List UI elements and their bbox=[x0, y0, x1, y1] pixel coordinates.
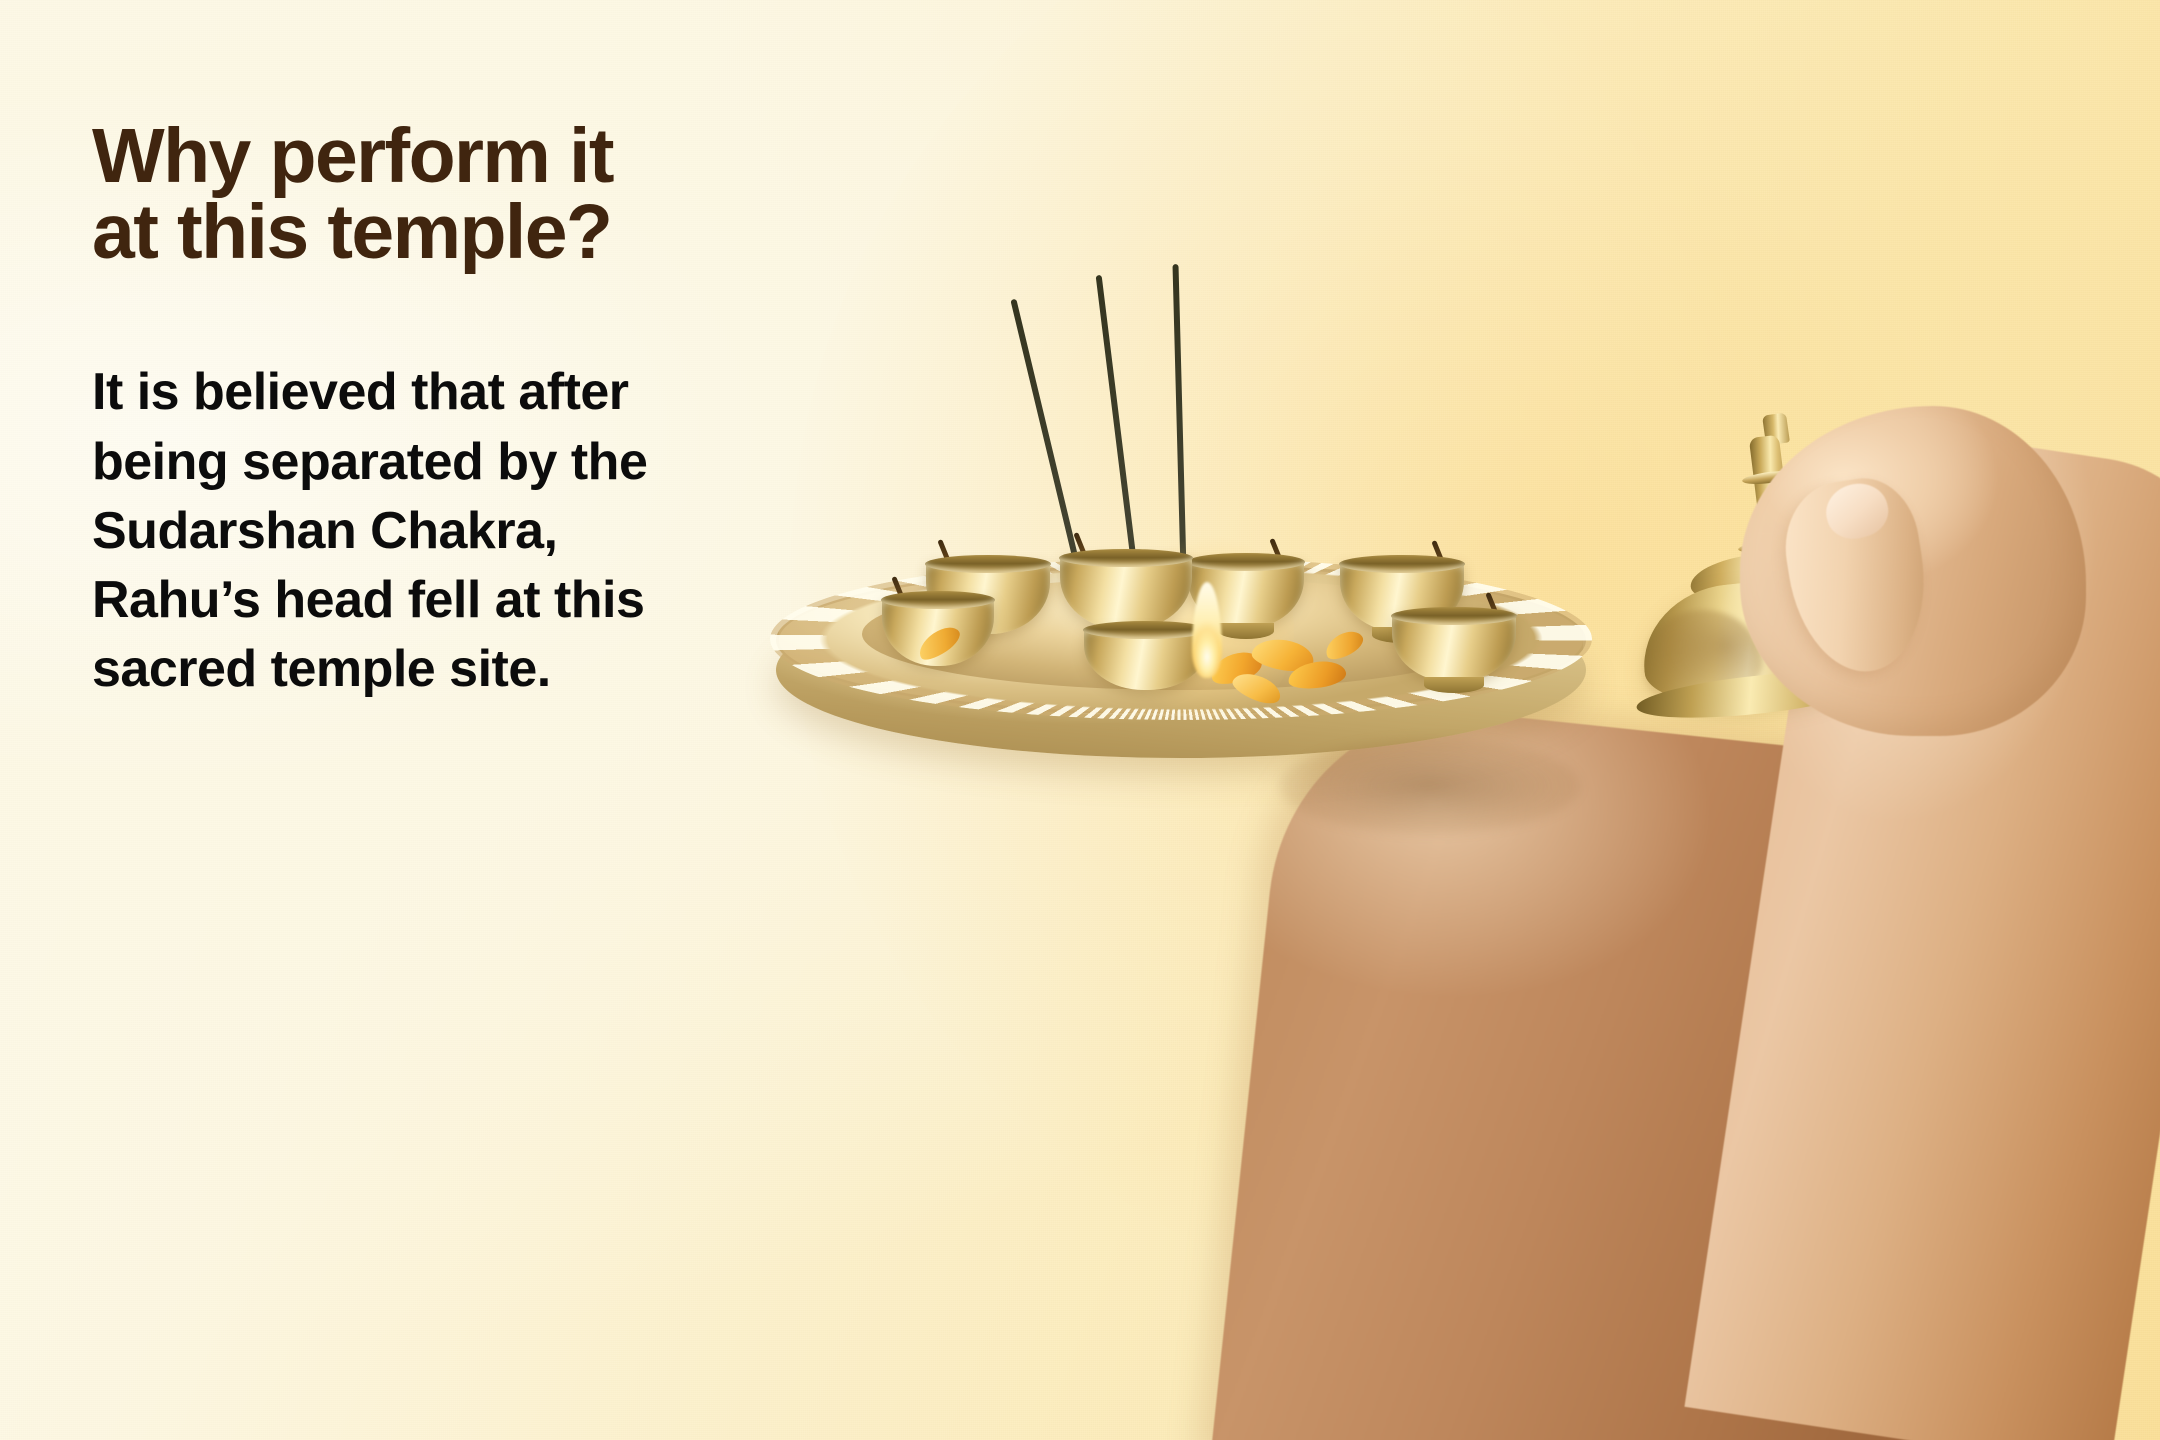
bowl-foot bbox=[1218, 623, 1274, 639]
slide-canvas: Why perform it at this temple? It is bel… bbox=[0, 0, 2160, 1440]
thali-contact-shadow bbox=[1280, 738, 1580, 834]
bowl-rim bbox=[1083, 621, 1209, 639]
brass-bowl bbox=[1084, 626, 1208, 690]
bowl-rim bbox=[1059, 549, 1193, 567]
brass-bowl bbox=[1392, 612, 1516, 682]
bowl-rim bbox=[1187, 553, 1305, 571]
bowl-rim bbox=[925, 555, 1051, 573]
bowl-rim bbox=[1391, 607, 1517, 625]
body-paragraph: It is believed that after being separate… bbox=[92, 358, 732, 704]
brass-bowl bbox=[1060, 554, 1192, 630]
bowl-rim bbox=[1339, 555, 1465, 573]
bowl-rim bbox=[881, 591, 995, 609]
bowl-foot bbox=[1424, 677, 1484, 693]
text-column: Why perform it at this temple? It is bel… bbox=[92, 118, 732, 704]
puja-photo bbox=[740, 230, 2160, 1440]
page-title: Why perform it at this temple? bbox=[92, 118, 732, 270]
